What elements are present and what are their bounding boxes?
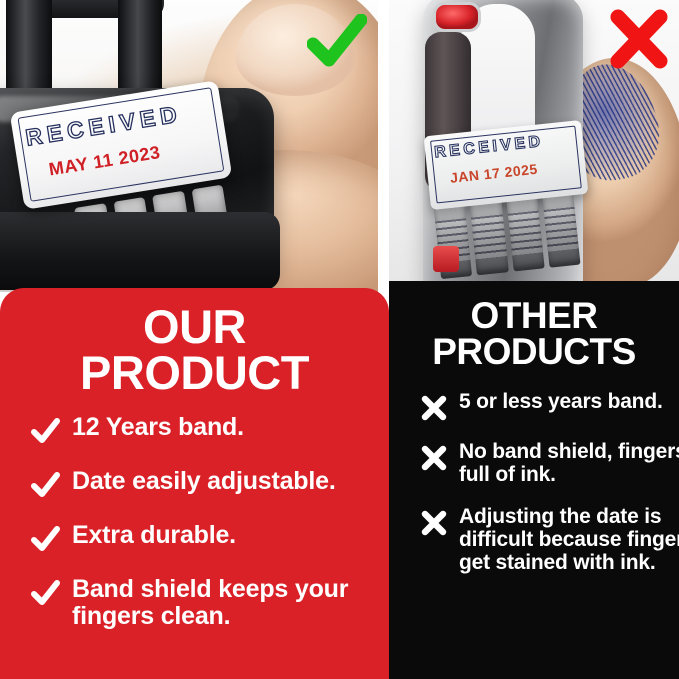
- check-icon: [30, 470, 60, 500]
- list-item: No band shield, fingers full of ink.: [421, 441, 679, 486]
- our-product-bullet-list: 12 Years band. Date easily adjustable. E…: [0, 414, 431, 652]
- other-products-panel: OTHER PRODUCTS 5 or less years band. No …: [389, 281, 679, 679]
- comparison-infographic: RECEIVED MAY 11 2023: [0, 0, 679, 679]
- green-check-badge: [307, 14, 367, 70]
- date-band: [506, 195, 545, 272]
- our-product-photo: RECEIVED MAY 11 2023: [0, 0, 378, 292]
- heading-line-2: PRODUCT: [0, 350, 389, 396]
- list-item: Date easily adjustable.: [30, 468, 419, 500]
- list-item-label: 5 or less years band.: [459, 391, 663, 414]
- heading-line-1: OTHER: [389, 298, 679, 334]
- list-item-label: 12 Years band.: [72, 414, 244, 441]
- stamp-red-button: [433, 2, 481, 32]
- other-products-heading: OTHER PRODUCTS: [389, 298, 679, 371]
- list-item-label: No band shield, fingers full of ink.: [459, 441, 679, 486]
- other-products-bullet-list: 5 or less years band. No band shield, fi…: [389, 391, 679, 594]
- date-band: [470, 198, 509, 275]
- check-icon: [30, 578, 60, 608]
- heading-line-1: OUR: [0, 304, 389, 350]
- check-icon: [30, 416, 60, 446]
- list-item-label: Date easily adjustable.: [72, 468, 336, 495]
- check-icon: [30, 524, 60, 554]
- our-product-heading: OUR PRODUCT: [0, 304, 389, 396]
- list-item: Band shield keeps your fingers clean.: [30, 576, 419, 630]
- heading-line-2: PRODUCTS: [389, 334, 679, 370]
- list-item: Extra durable.: [30, 522, 419, 554]
- list-item: 12 Years band.: [30, 414, 419, 446]
- our-product-panel: OUR PRODUCT 12 Years band. Date easily a…: [0, 288, 389, 679]
- list-item: Adjusting the date is difficult because …: [421, 506, 679, 574]
- list-item: 5 or less years band.: [421, 391, 679, 421]
- stamp-base: [0, 212, 280, 290]
- red-x-badge: [606, 8, 672, 70]
- list-item-label: Extra durable.: [72, 522, 236, 549]
- list-item-label: Adjusting the date is difficult because …: [459, 506, 679, 574]
- list-item-label: Band shield keeps your fingers clean.: [72, 576, 419, 630]
- stamp-red-lever: [433, 246, 459, 272]
- photo-comparison-area: RECEIVED MAY 11 2023: [0, 0, 679, 292]
